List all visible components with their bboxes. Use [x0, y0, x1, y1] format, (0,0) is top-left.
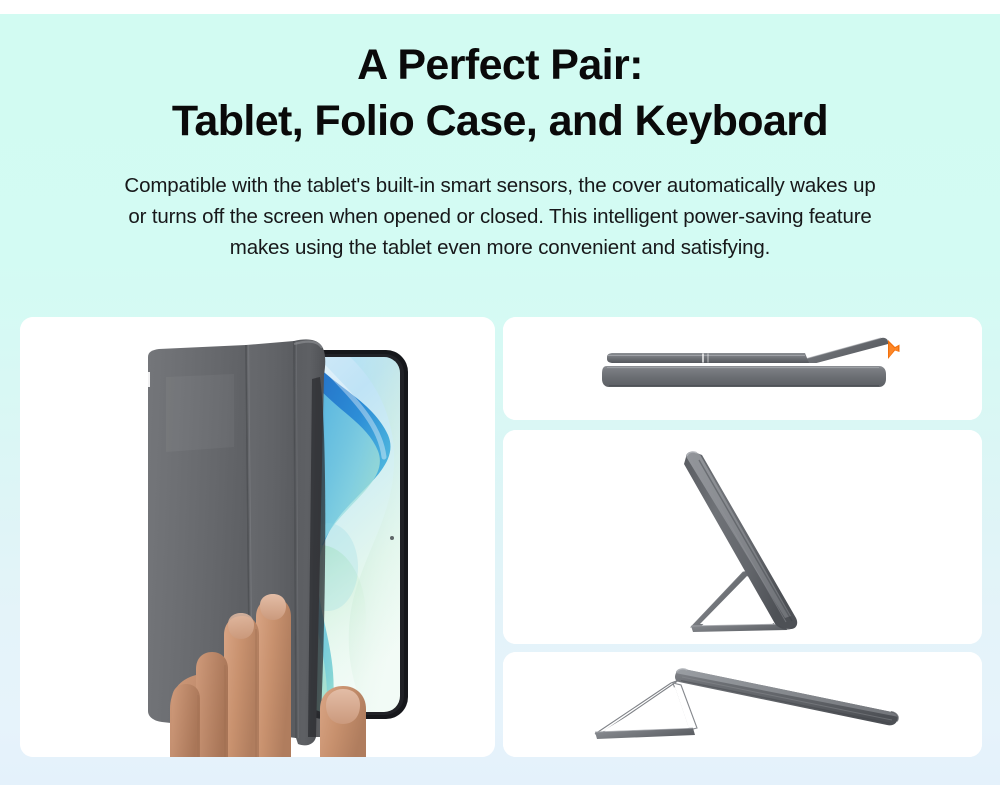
tablet-upright-stand-mode-illustration — [503, 430, 982, 644]
header: A Perfect Pair: Tablet, Folio Case, and … — [0, 14, 1000, 263]
gallery-thumbnail-card-3[interactable] — [503, 652, 982, 757]
hand-holding-tablet-with-folio-cover-illustration — [20, 317, 495, 757]
top-white-strip — [0, 0, 1000, 14]
tablet-cover-flap-lifting-side-view-illustration — [503, 317, 982, 420]
bottom-white-strip — [0, 785, 1000, 802]
product-feature-page: A Perfect Pair: Tablet, Folio Case, and … — [0, 0, 1000, 802]
gallery-thumbnail-card-2[interactable] — [503, 430, 982, 644]
subtitle-line-1: Compatible with the tablet's built-in sm… — [50, 170, 950, 201]
tablet-low-angle-typing-mode-illustration — [503, 652, 982, 757]
subtitle-line-2: or turns off the screen when opened or c… — [50, 201, 950, 232]
product-image-gallery — [20, 317, 982, 757]
gallery-main-image-card[interactable] — [20, 317, 495, 757]
page-title-line-2: Tablet, Folio Case, and Keyboard — [0, 100, 1000, 143]
gallery-thumbnail-card-1[interactable] — [503, 317, 982, 420]
subtitle-line-3: makes using the tablet even more conveni… — [50, 232, 950, 263]
page-subtitle: Compatible with the tablet's built-in sm… — [50, 170, 950, 263]
page-title-line-1: A Perfect Pair: — [0, 44, 1000, 87]
